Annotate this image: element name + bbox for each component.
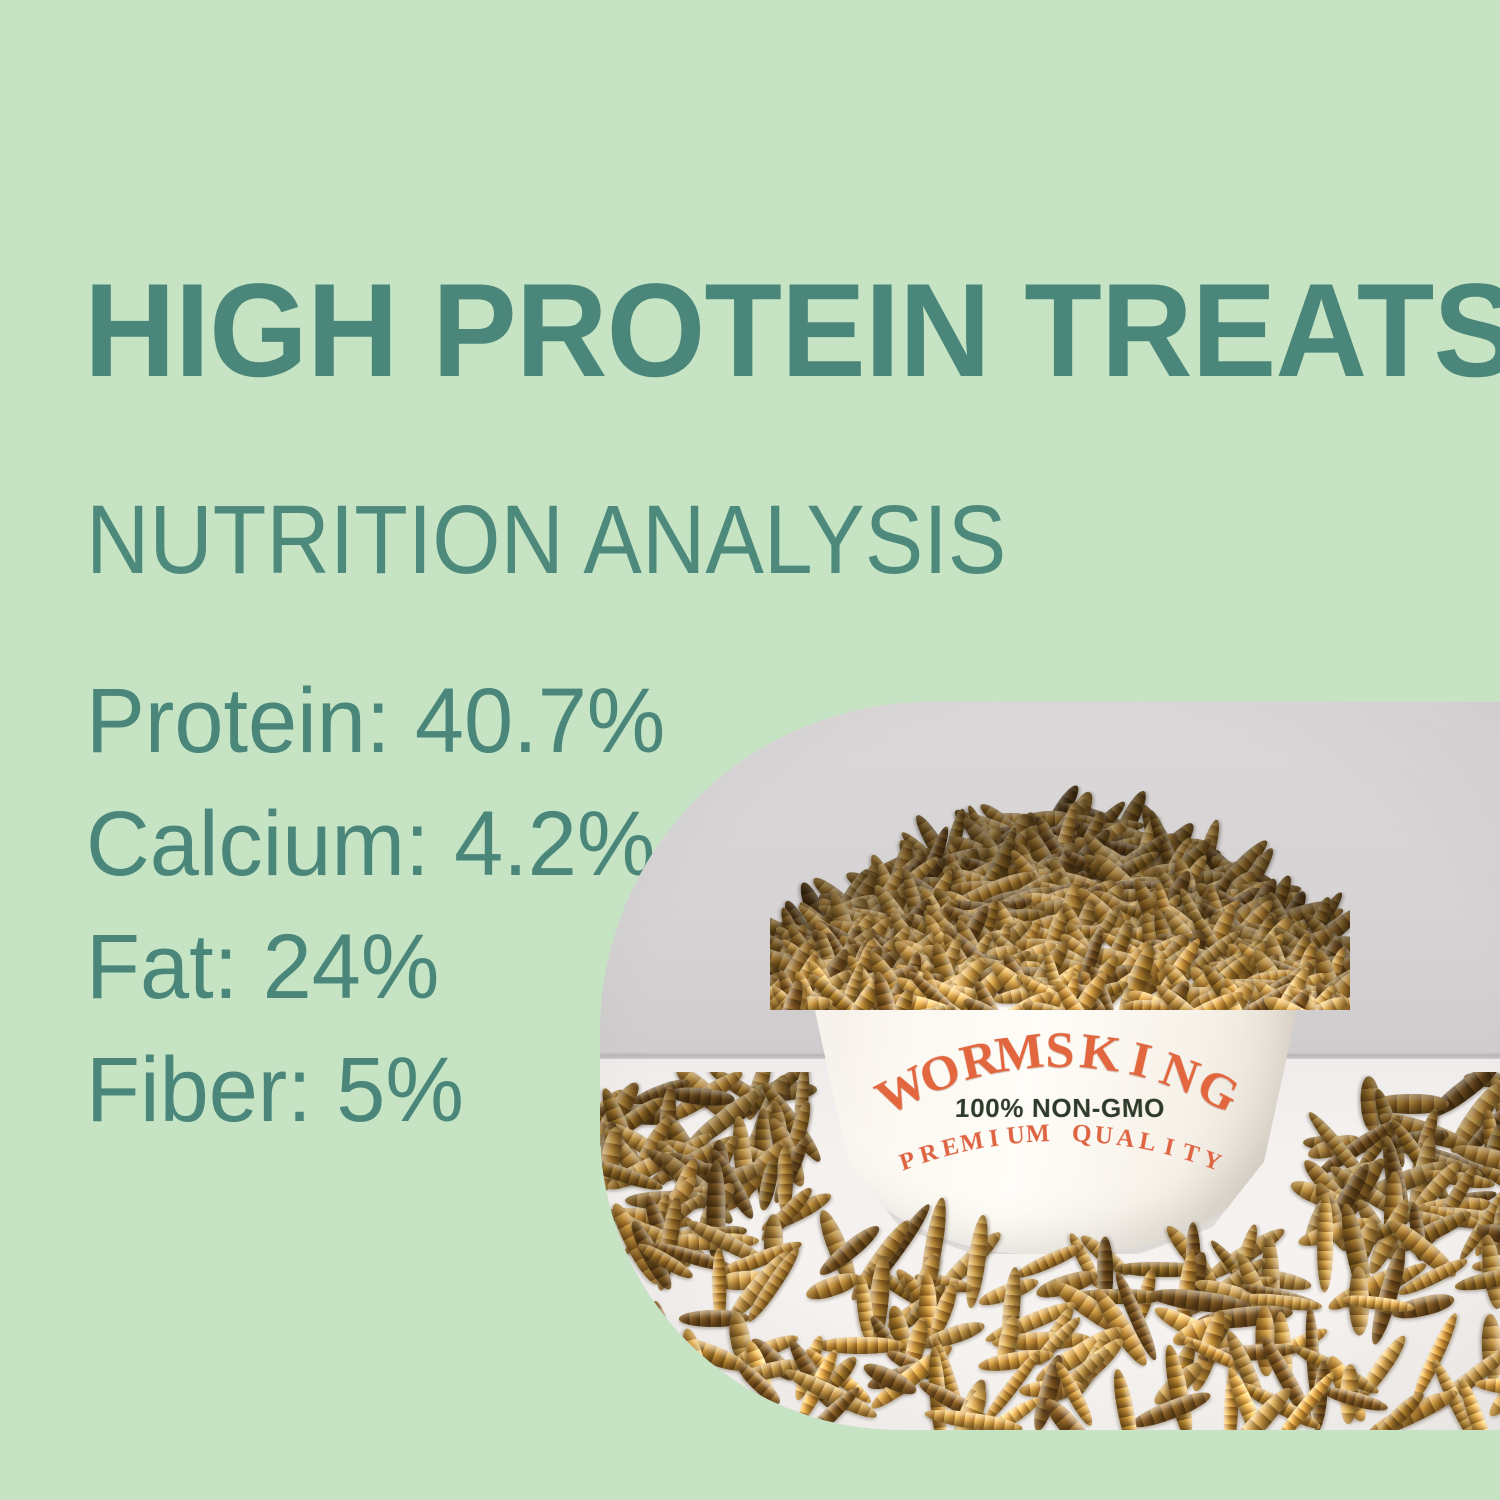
product-photo: WORMSKING 100% NON-GMO PREMIUM QUALITY [600, 702, 1500, 1430]
nutrition-item-protein: Protein: 40.7% [86, 660, 681, 783]
nutrition-item-fiber: Fiber: 5% [86, 1029, 681, 1152]
product-infographic: HIGH PROTEIN TREATS NUTRITION ANALYSIS P… [0, 0, 1500, 1500]
nutrition-item-calcium: Calcium: 4.2% [86, 783, 681, 906]
page-title: HIGH PROTEIN TREATS [84, 265, 1500, 398]
larva [1317, 1194, 1334, 1293]
nutrition-item-fat: Fat: 24% [86, 906, 681, 1029]
larva [1304, 1072, 1365, 1119]
larvae-scatter [600, 1072, 1500, 1430]
page-subtitle: NUTRITION ANALYSIS [86, 491, 1006, 588]
larvae-pile [770, 780, 1350, 1010]
